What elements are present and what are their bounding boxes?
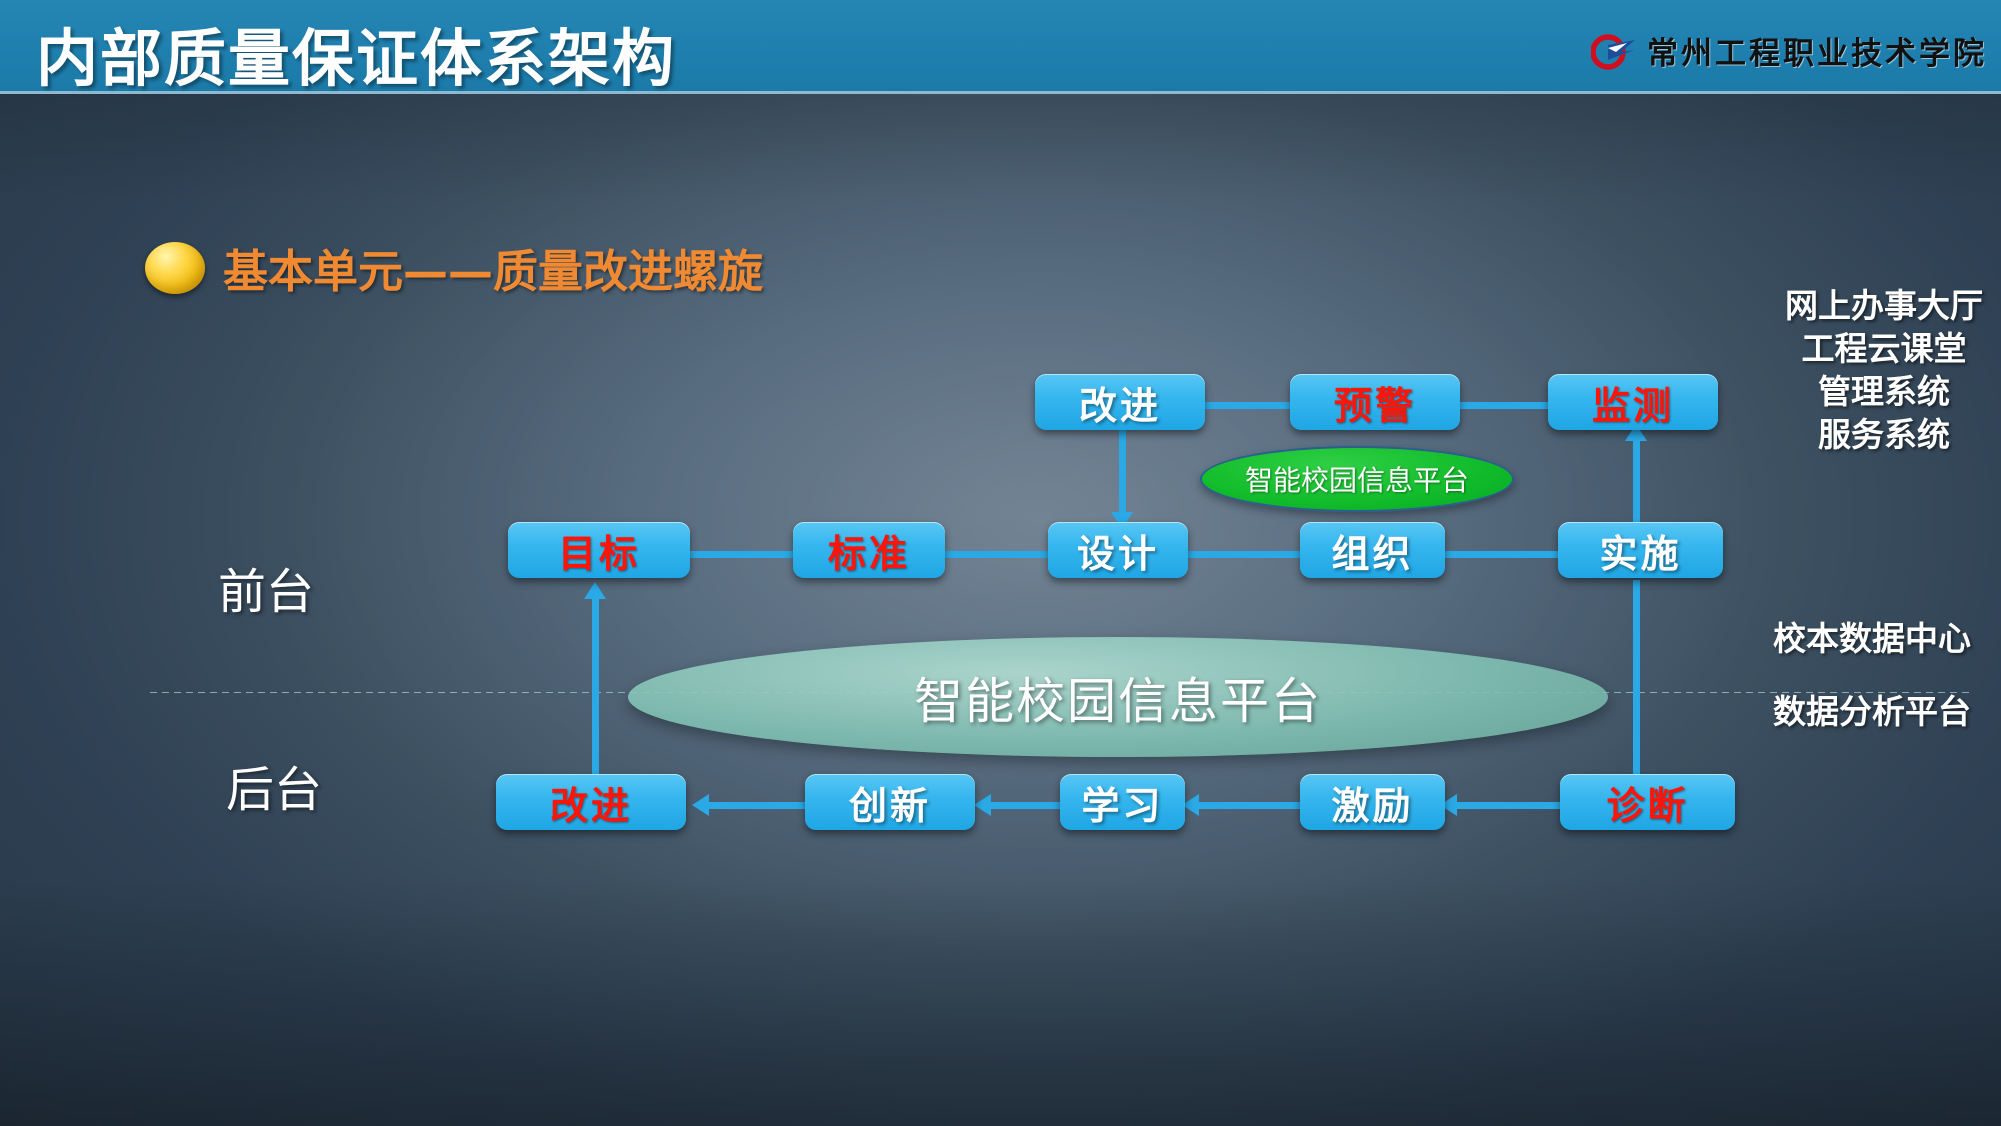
connector-zhenduan-to-jili (1448, 802, 1566, 809)
node-label: 实施 (1599, 523, 1681, 578)
connector-sheji-to-zuzhi (1182, 551, 1308, 558)
smart-campus-platform-small-ellipse: 智能校园信息平台 (1200, 446, 1514, 512)
connector-biaozhun-to-sheji (940, 551, 1056, 558)
side-label-item: 工程云课堂 (1785, 328, 1983, 371)
university-logo: 常州工程职业技术学院 (1591, 28, 1987, 73)
node-label: 激励 (1331, 775, 1413, 830)
connector-jiance-to-yujing (1444, 402, 1554, 409)
section-bullet: 基本单元——质量改进螺旋 (145, 235, 763, 300)
node-label: 改进 (1079, 375, 1161, 430)
node-sheji[interactable]: 设计 (1048, 522, 1188, 578)
node-zuzhi[interactable]: 组织 (1300, 522, 1445, 578)
node-xuexi[interactable]: 学习 (1060, 774, 1185, 830)
side-label-item: 校本数据中心 (1773, 618, 1971, 661)
connector-mubiao-to-biaozhun (685, 551, 801, 558)
node-jiance[interactable]: 监测 (1548, 374, 1718, 430)
connector-jili-to-xuexi (1190, 802, 1308, 809)
node-shishi[interactable]: 实施 (1558, 522, 1723, 578)
node-label: 创新 (849, 775, 931, 830)
node-biaozhun[interactable]: 标准 (793, 522, 945, 578)
node-jili[interactable]: 激励 (1300, 774, 1445, 830)
node-zhenduan[interactable]: 诊断 (1560, 774, 1735, 830)
node-label: 目标 (558, 523, 640, 578)
smart-campus-platform-small-label: 智能校园信息平台 (1245, 459, 1469, 499)
connector-gaijin-to-mubiao (592, 594, 599, 774)
node-label: 设计 (1077, 523, 1159, 578)
arrowhead-gaijin-to-mubiao (584, 582, 606, 599)
arrowhead-xuexi-to-chuangxin (974, 794, 991, 816)
page-title: 内部质量保证体系架构 (36, 8, 676, 98)
node-label: 标准 (828, 523, 910, 578)
stage-label-back: 后台 (226, 750, 322, 820)
node-label: 预警 (1334, 375, 1416, 430)
side-labels-bottom: 校本数据中心 数据分析平台 (1773, 618, 1971, 734)
slide-canvas: 内部质量保证体系架构 常州工程职业技术学院 基本单元——质量改进螺旋 前台 后台… (0, 0, 2001, 1126)
node-label: 诊断 (1606, 775, 1688, 830)
university-name: 常州工程职业技术学院 (1647, 28, 1987, 73)
side-label-item: 服务系统 (1785, 414, 1983, 457)
node-yujing[interactable]: 预警 (1290, 374, 1460, 430)
smart-campus-platform-ellipse: 智能校园信息平台 (628, 637, 1608, 757)
section-bullet-label: 基本单元——质量改进螺旋 (223, 235, 763, 300)
node-label: 学习 (1081, 775, 1163, 830)
node-chuangxin[interactable]: 创新 (805, 774, 975, 830)
side-label-item: 数据分析平台 (1773, 691, 1971, 734)
node-mubiao[interactable]: 目标 (508, 522, 690, 578)
smart-campus-platform-label: 智能校园信息平台 (914, 662, 1322, 733)
arrowhead-chuangxin-to-gaijin (692, 794, 709, 816)
slide-header: 内部质量保证体系架构 常州工程职业技术学院 (0, 0, 2001, 94)
node-gaijin-bottom[interactable]: 改进 (496, 774, 686, 830)
node-label: 监测 (1592, 375, 1674, 430)
stage-label-front: 前台 (218, 552, 314, 622)
node-label: 组织 (1331, 523, 1413, 578)
node-label: 改进 (550, 775, 632, 830)
university-emblem-icon (1591, 30, 1637, 72)
connector-shishi-to-zhenduan (1633, 580, 1640, 790)
side-label-item: 网上办事大厅 (1785, 285, 1983, 328)
connector-zuzhi-to-shishi (1440, 551, 1566, 558)
gold-ellipse-bullet-icon (145, 242, 205, 294)
side-labels-top: 网上办事大厅 工程云课堂 管理系统 服务系统 (1785, 285, 1983, 457)
connector-chuangxin-to-gaijin (700, 802, 812, 809)
side-label-item: 管理系统 (1785, 371, 1983, 414)
node-gaijin-top[interactable]: 改进 (1035, 374, 1205, 430)
connector-gaijin-to-sheji (1119, 430, 1126, 516)
